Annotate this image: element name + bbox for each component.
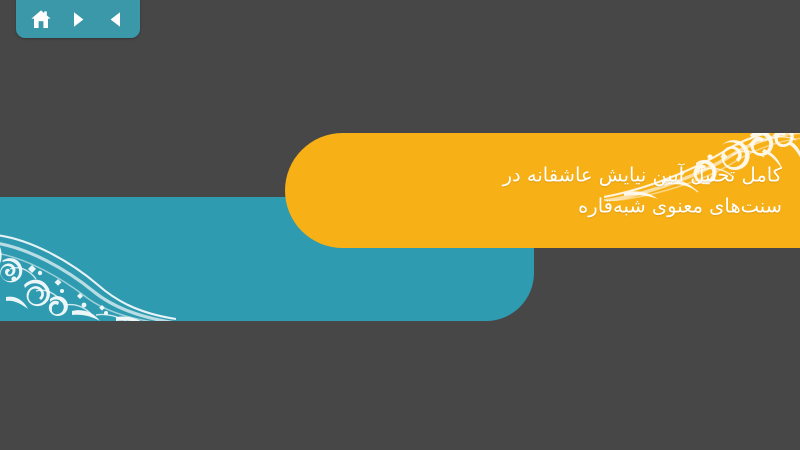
slide-title-line-2: سنت‌های معنوی شبه‌قاره bbox=[362, 191, 782, 223]
orange-title-band: کامل تحلیل آیین نیایش عاشقانه در سنت‌های… bbox=[285, 133, 800, 248]
slide-title: کامل تحلیل آیین نیایش عاشقانه در سنت‌های… bbox=[362, 159, 782, 222]
back-button[interactable] bbox=[101, 6, 129, 32]
slide-title-line-1: کامل تحلیل آیین نیایش عاشقانه در bbox=[362, 159, 782, 191]
back-icon bbox=[106, 10, 125, 29]
presentation-slide: کامل تحلیل آیین نیایش عاشقانه در سنت‌های… bbox=[0, 0, 800, 450]
navigation-bar bbox=[16, 0, 140, 38]
forward-button[interactable] bbox=[64, 6, 92, 32]
arabesque-ornament bbox=[0, 199, 176, 321]
home-button[interactable] bbox=[27, 6, 55, 32]
forward-icon bbox=[69, 10, 88, 29]
home-icon bbox=[30, 9, 52, 30]
